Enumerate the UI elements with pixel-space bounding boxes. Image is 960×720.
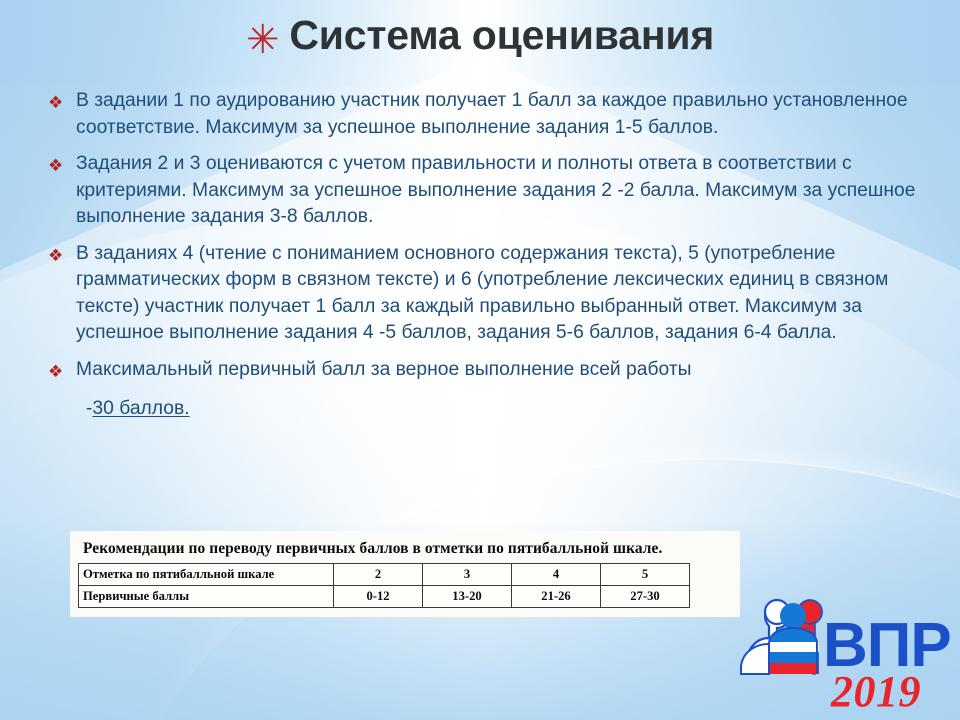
list-item-text: Максимальный первичный балл за верное вы… [76, 357, 928, 384]
table-cell: 13-20 [423, 586, 512, 608]
table-cell: 5 [601, 564, 690, 586]
max-score-line: -30 баллов. [48, 395, 928, 423]
diamond-cluster-bullet-icon: ❖ [48, 88, 76, 116]
slide-title-row: ✳ Система оценивания [0, 14, 960, 60]
list-item-text: В задании 1 по аудированию участник полу… [76, 88, 928, 141]
slide-canvas: ✳ Система оценивания ❖ В задании 1 по ау… [0, 0, 960, 720]
table-cell: 27-30 [601, 586, 690, 608]
bullet-list: ❖ В задании 1 по аудированию участник по… [48, 88, 928, 423]
vpr-logo-year: 2019 [831, 670, 921, 714]
diamond-cluster-bullet-icon: ❖ [48, 151, 76, 179]
list-item: ❖ Задания 2 и 3 оцениваются с учетом пра… [48, 151, 928, 231]
vpr-logo: ВПР 2019 [735, 586, 960, 720]
diamond-cluster-bullet-icon: ❖ [48, 357, 76, 385]
score-conversion-table: Отметка по пятибалльной шкале 2 3 4 5 Пе… [78, 563, 690, 608]
asterisk-icon: ✳ [246, 20, 280, 60]
list-item: ❖ В задании 1 по аудированию участник по… [48, 88, 928, 141]
row-label: Первичные баллы [79, 586, 334, 608]
table-row: Отметка по пятибалльной шкале 2 3 4 5 [79, 564, 690, 586]
page-title: Система оценивания [289, 14, 714, 57]
max-score-value: 30 баллов. [92, 398, 189, 419]
table-cell: 0-12 [334, 586, 423, 608]
diamond-cluster-bullet-icon: ❖ [48, 241, 76, 269]
list-item-text: В заданиях 4 (чтение с пониманием основн… [76, 241, 928, 347]
vpr-figures-icon [741, 600, 822, 674]
list-item-text: Задания 2 и 3 оцениваются с учетом прави… [76, 151, 928, 231]
list-item: ❖ В заданиях 4 (чтение с пониманием осно… [48, 241, 928, 347]
table-cell: 3 [423, 564, 512, 586]
score-conversion-caption: Рекомендации по переводу первичных балло… [78, 537, 732, 563]
table-cell: 4 [512, 564, 601, 586]
table-row: Первичные баллы 0-12 13-20 21-26 27-30 [79, 586, 690, 608]
table-cell: 2 [334, 564, 423, 586]
score-conversion-panel: Рекомендации по переводу первичных балло… [70, 531, 740, 617]
list-item: ❖ Максимальный первичный балл за верное … [48, 357, 928, 385]
row-label: Отметка по пятибалльной шкале [79, 564, 334, 586]
table-cell: 21-26 [512, 586, 601, 608]
